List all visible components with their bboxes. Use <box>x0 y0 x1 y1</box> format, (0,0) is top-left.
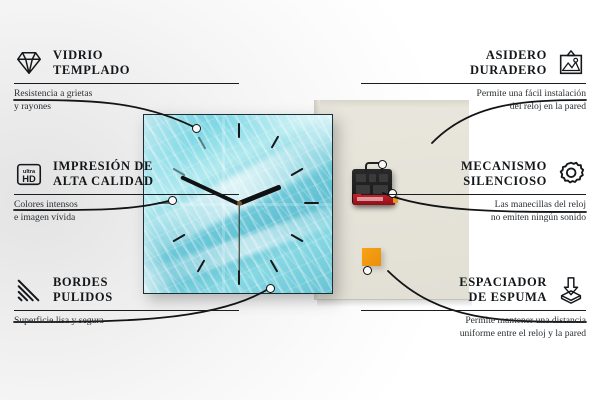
feature-title-line2: TEMPLADO <box>53 63 130 78</box>
leader-node-espaciador <box>363 266 372 275</box>
feature-divider <box>14 83 239 84</box>
clock-tick-3 <box>304 202 319 204</box>
feature-header: MECANISMO SILENCIOSO <box>361 159 586 189</box>
feature-description: Colores intensos e imagen vívida <box>14 199 239 224</box>
feature-title: ASIDERO DURADERO <box>470 48 547 78</box>
feature-title-line1: BORDES <box>53 275 113 290</box>
feature-description: Superficie lisa y segura <box>14 315 239 328</box>
leader-node-bordes <box>266 284 275 293</box>
feature-desc-line1: Superficie lisa y segura <box>14 315 239 328</box>
ultra-hd-icon: ultra HD <box>14 159 44 189</box>
feature-title: VIDRIO TEMPLADO <box>53 48 130 78</box>
feature-desc-line1: Las manecillas del reloj <box>361 199 586 212</box>
feature-divider <box>361 194 586 195</box>
polished-edges-icon <box>14 275 44 305</box>
feature-header: ESPACIADOR DE ESPUMA <box>361 275 586 305</box>
feature-desc-line1: Permite una fácil instalación <box>361 88 586 101</box>
feature-desc-line2: e imagen vívida <box>14 212 239 225</box>
gear-icon <box>556 159 586 189</box>
feature-title-line2: SILENCIOSO <box>461 174 547 189</box>
feature-header: VIDRIO TEMPLADO <box>14 48 239 78</box>
feature-desc-line2: del reloj en la pared <box>361 101 586 114</box>
clock-tick-12 <box>238 123 240 138</box>
feature-description: Permite mantener una distancia uniforme … <box>361 315 586 340</box>
framed-picture-hanger-icon <box>556 48 586 78</box>
foam-spacer-arrow-icon <box>556 275 586 305</box>
leader-node-vidrio-templado <box>192 124 201 133</box>
feature-title: ESPACIADOR DE ESPUMA <box>459 275 547 305</box>
diamond-icon <box>14 48 44 78</box>
feature-divider <box>14 310 239 311</box>
feature-description: Las manecillas del reloj no emiten ningú… <box>361 199 586 224</box>
feature-description: Resistencia a grietas y rayones <box>14 88 239 113</box>
feature-bordes-pulidos: BORDES PULIDOS Superficie lisa y segura <box>14 275 239 328</box>
feature-asidero-duradero: ASIDERO DURADERO Permite una fácil insta… <box>361 48 586 114</box>
feature-desc-line2: uniforme entre el reloj y la pared <box>361 328 586 341</box>
feature-header: ASIDERO DURADERO <box>361 48 586 78</box>
feature-desc-line1: Permite mantener una distancia <box>361 315 586 328</box>
feature-title: IMPRESIÓN DE ALTA CALIDAD <box>53 159 154 189</box>
feature-title-line2: DE ESPUMA <box>459 290 547 305</box>
feature-title-line2: ALTA CALIDAD <box>53 174 154 189</box>
svg-text:HD: HD <box>22 174 36 184</box>
feature-vidrio-templado: VIDRIO TEMPLADO Resistencia a grietas y … <box>14 48 239 114</box>
feature-desc-line2: no emiten ningún sonido <box>361 212 586 225</box>
feature-mecanismo-silencioso: MECANISMO SILENCIOSO Las manecillas del … <box>361 159 586 225</box>
feature-desc-line1: Resistencia a grietas <box>14 88 239 101</box>
feature-header: BORDES PULIDOS <box>14 275 239 305</box>
feature-title-line2: PULIDOS <box>53 290 113 305</box>
feature-title-line1: VIDRIO <box>53 48 130 63</box>
feature-title-line1: MECANISMO <box>461 159 547 174</box>
feature-header: ultra HD IMPRESIÓN DE ALTA CALIDAD <box>14 159 239 189</box>
feature-title-line1: IMPRESIÓN DE <box>53 159 154 174</box>
feature-description: Permite una fácil instalación del reloj … <box>361 88 586 113</box>
feature-desc-line1: Colores intensos <box>14 199 239 212</box>
foam-spacer <box>362 248 381 266</box>
feature-title-line2: DURADERO <box>470 63 547 78</box>
feature-title-line1: ASIDERO <box>470 48 547 63</box>
feature-title-line1: ESPACIADOR <box>459 275 547 290</box>
feature-title: MECANISMO SILENCIOSO <box>461 159 547 189</box>
feature-divider <box>361 83 586 84</box>
feature-desc-line2: y rayones <box>14 101 239 114</box>
feature-divider <box>361 310 586 311</box>
infographic-canvas: VIDRIO TEMPLADO Resistencia a grietas y … <box>0 0 600 400</box>
feature-divider <box>14 194 239 195</box>
feature-title: BORDES PULIDOS <box>53 275 113 305</box>
feature-impresion-alta-calidad: ultra HD IMPRESIÓN DE ALTA CALIDAD Color… <box>14 159 239 225</box>
feature-espaciador-de-espuma: ESPACIADOR DE ESPUMA Permite mantener un… <box>361 275 586 341</box>
